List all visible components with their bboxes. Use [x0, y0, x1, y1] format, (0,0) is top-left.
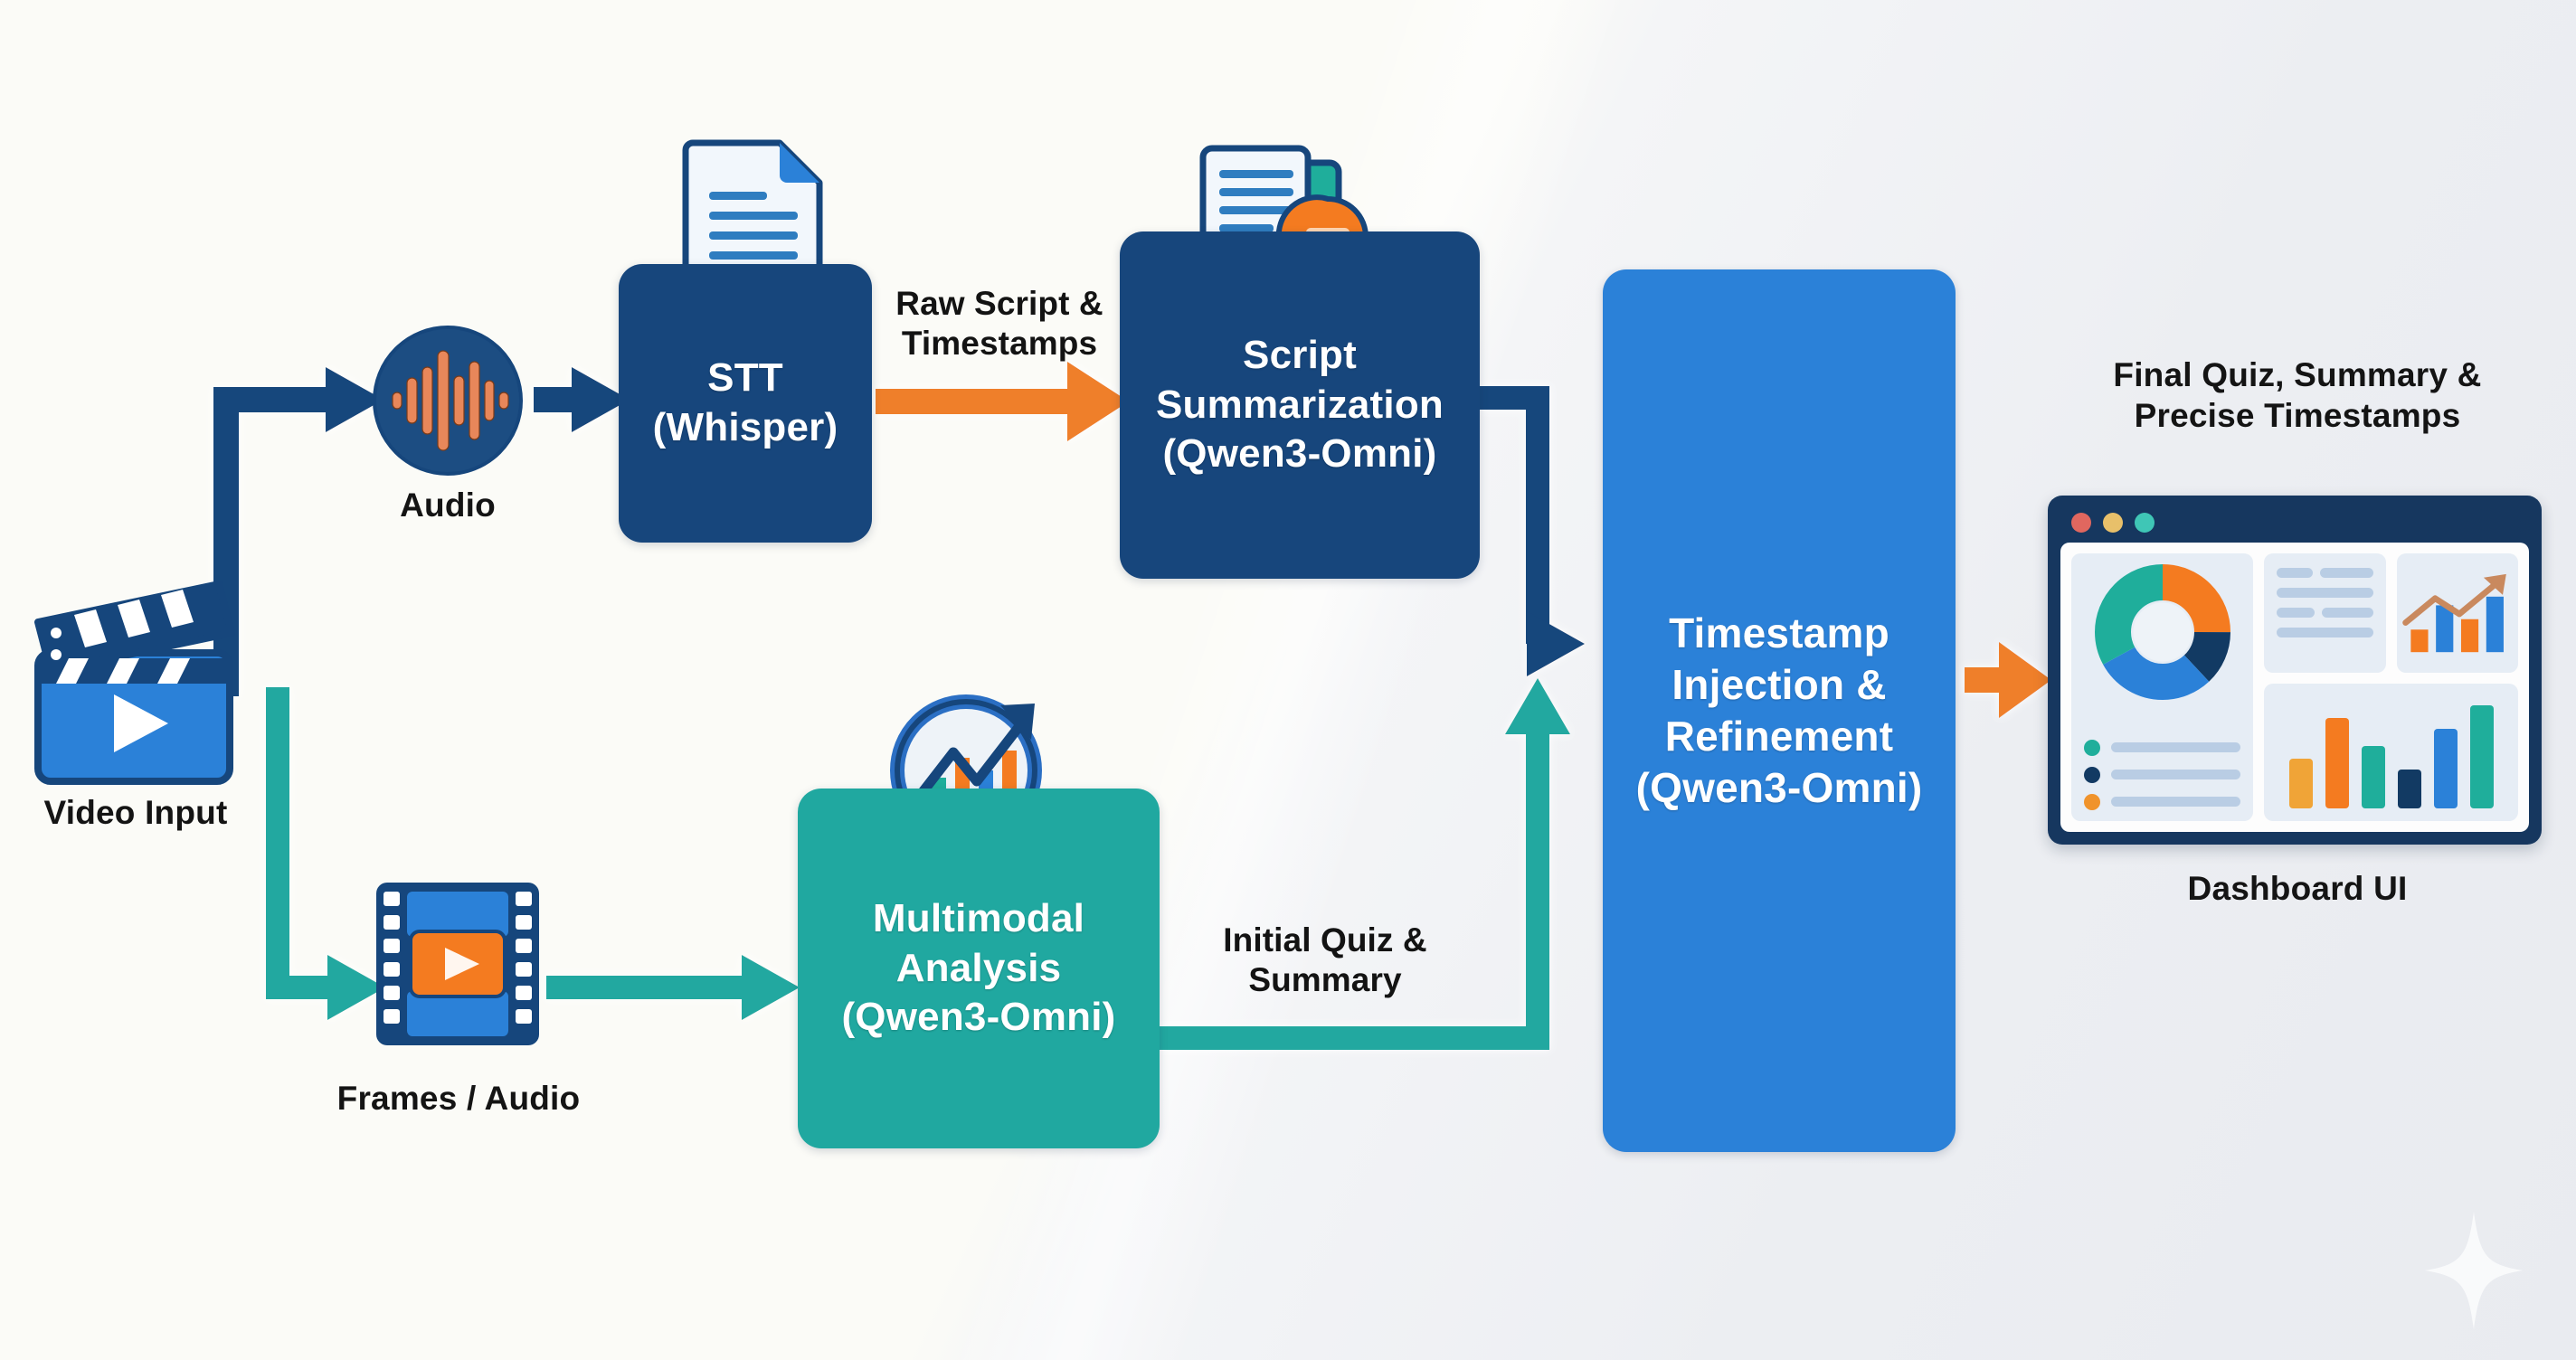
legend-bar [2111, 770, 2240, 779]
main-bar-chart [2264, 702, 2518, 808]
wire-stt-to-summarization [876, 362, 1129, 441]
node-script-summarization[interactable]: Script Summarization (Qwen3-Omni) [1120, 231, 1480, 579]
node-stt-label: STT (Whisper) [619, 354, 872, 452]
legend-row [2084, 767, 2240, 783]
window-close-dot[interactable] [2071, 513, 2091, 533]
wire-frames-to-multimodal [546, 955, 800, 1020]
text-line [2277, 588, 2372, 598]
clapperboard-icon [18, 568, 255, 785]
text-line [2277, 628, 2372, 637]
film-strip-icon [367, 875, 548, 1053]
edge-label-initial-quiz: Initial Quiz & Summary [1176, 921, 1474, 1001]
legend-dot [2084, 740, 2100, 756]
legend-row [2084, 794, 2240, 810]
text-line [2322, 608, 2373, 618]
dashboard-body [2060, 543, 2529, 832]
node-multimodal-analysis-label: Multimodal Analysis (Qwen3-Omni) [798, 894, 1160, 1043]
mini-bar-chart [2397, 553, 2518, 673]
node-timestamp-injection[interactable]: Timestamp Injection & Refinement (Qwen3-… [1603, 269, 1956, 1152]
bar [2362, 746, 2385, 808]
mini-bar-chart-panel [2397, 553, 2518, 673]
legend-dot [2084, 767, 2100, 783]
text-lines-panel [2264, 553, 2385, 673]
window-maximize-dot[interactable] [2135, 513, 2155, 533]
video-input-label: Video Input [0, 792, 271, 833]
dashboard-titlebar [2057, 505, 2533, 541]
legend-bar [2111, 797, 2240, 807]
edge-label-raw-script: Raw Script & Timestamps [868, 284, 1131, 364]
dashboard-top-row [2264, 553, 2518, 673]
edge-label-final-output: Final Quiz, Summary & Precise Timestamps [2044, 354, 2551, 436]
bar [2398, 770, 2421, 808]
text-line [2277, 568, 2312, 578]
diagram-canvas: Video Input Audio [0, 0, 2576, 1360]
node-multimodal-analysis[interactable]: Multimodal Analysis (Qwen3-Omni) [798, 789, 1160, 1148]
legend-bar [2111, 742, 2240, 752]
donut-chart-panel [2071, 553, 2253, 821]
node-script-summarization-label: Script Summarization (Qwen3-Omni) [1120, 331, 1480, 479]
bar [2325, 718, 2349, 808]
node-stt[interactable]: STT (Whisper) [619, 264, 872, 543]
donut-chart [2095, 564, 2230, 700]
wire-timestamp-to-dashboard [1965, 642, 2051, 718]
wire-summarization-to-timestamp [1480, 398, 1585, 676]
window-minimize-dot[interactable] [2103, 513, 2123, 533]
legend-dot [2084, 794, 2100, 810]
wire-audio-to-stt [534, 367, 630, 432]
bar [2434, 729, 2458, 808]
bar [2470, 705, 2494, 808]
dashboard-ui-label: Dashboard UI [2071, 868, 2524, 909]
legend-row [2084, 740, 2240, 756]
sparkle-icon [2424, 1212, 2524, 1329]
frames-audio-label: Frames / Audio [282, 1078, 635, 1119]
dashboard-window-icon[interactable] [2048, 496, 2542, 845]
audio-waveform-icon [371, 324, 525, 477]
bar [2289, 759, 2313, 808]
node-timestamp-injection-label: Timestamp Injection & Refinement (Qwen3-… [1603, 608, 1956, 814]
text-line [2320, 568, 2373, 578]
main-bar-chart-panel [2264, 684, 2518, 821]
donut-legend [2071, 740, 2253, 821]
text-line [2277, 608, 2314, 618]
audio-label: Audio [336, 485, 559, 525]
